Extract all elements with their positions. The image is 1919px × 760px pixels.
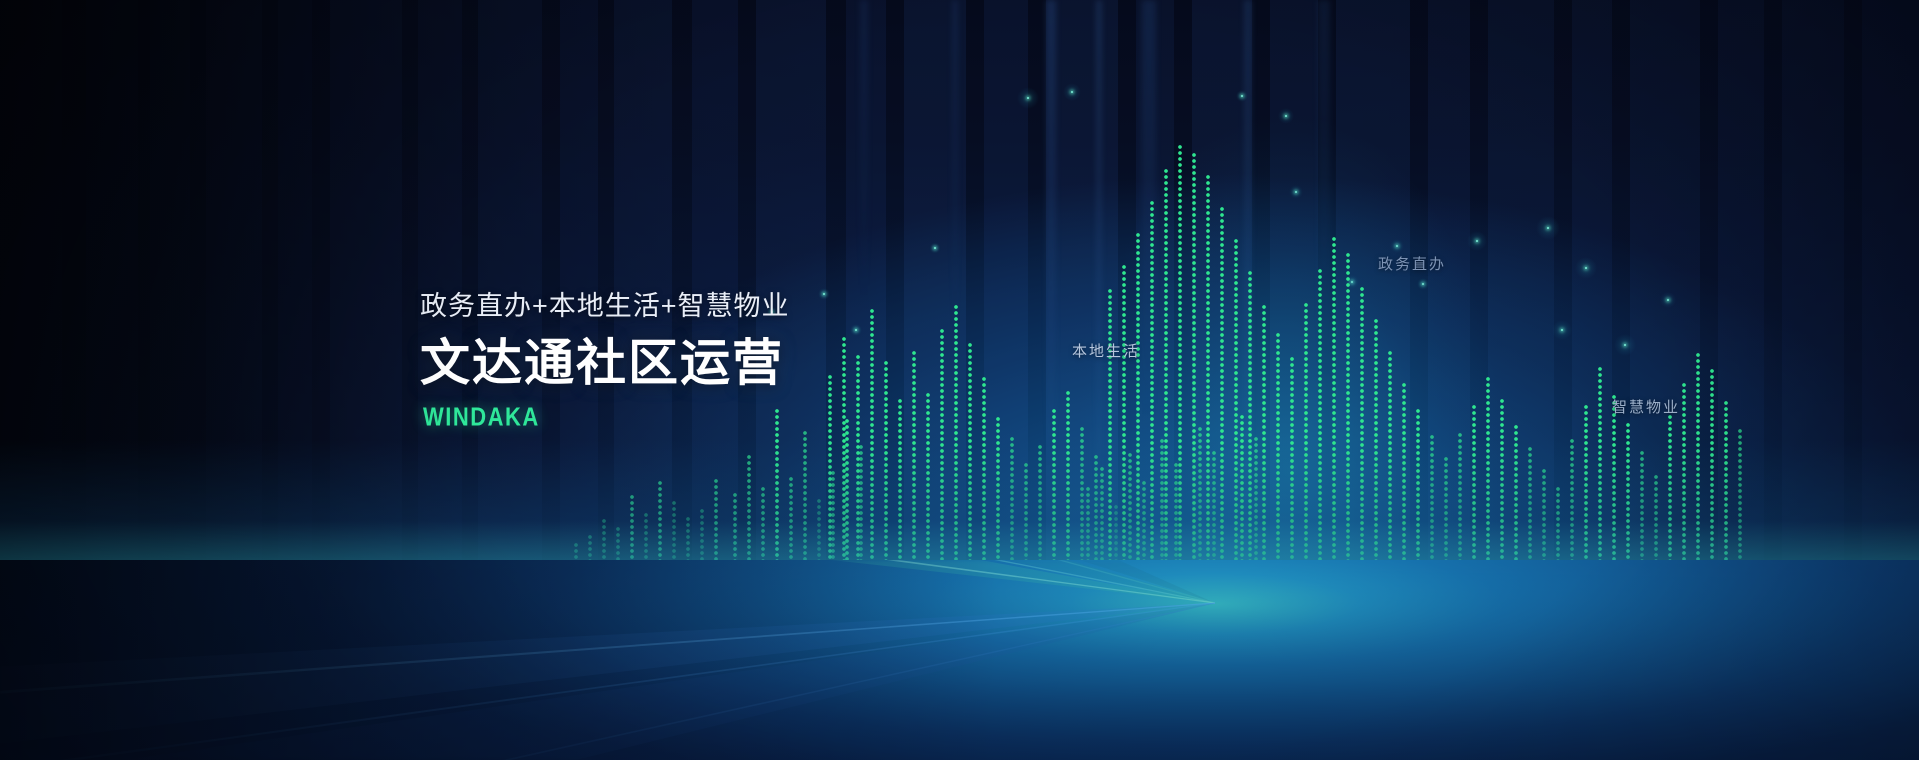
skyline-column	[1318, 269, 1325, 605]
feature-label-govt-direct: 政务直办	[1378, 253, 1446, 274]
perspective-floor	[0, 560, 1919, 760]
headline-block: 政务直办+本地生活+智慧物业 文达通社区运营 WINDAKA	[420, 292, 1120, 428]
skyline-column	[1346, 253, 1353, 605]
skyline-column	[1220, 207, 1227, 605]
hero-banner: 政务直办 本地生活 智慧物业 政务直办+本地生活+智慧物业 文达通社区运营 WI…	[0, 0, 1919, 760]
floor-bottom-shade	[0, 560, 1919, 760]
brand-wordmark: WINDAKA	[423, 402, 1120, 433]
skyline-column	[1150, 201, 1157, 605]
skyline-column	[1332, 237, 1339, 605]
skyline-column	[1360, 287, 1367, 605]
feature-label-smart-property: 智慧物业	[1612, 396, 1680, 417]
banner-title: 文达通社区运营	[420, 336, 1120, 390]
banner-subtitle: 政务直办+本地生活+智慧物业	[420, 292, 1120, 322]
